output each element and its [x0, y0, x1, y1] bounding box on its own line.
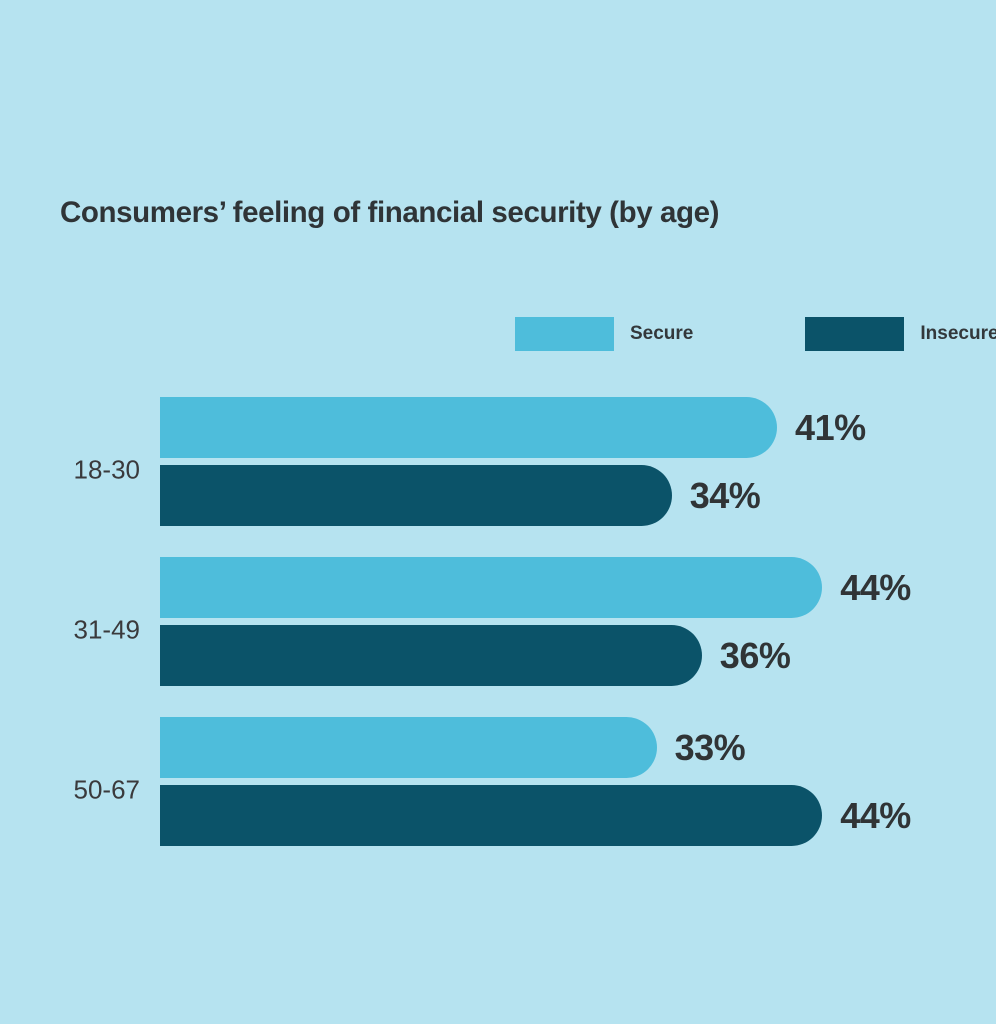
- bar-secure: [160, 397, 777, 458]
- bar-row-secure: 44%: [160, 557, 911, 618]
- bar-group: 18-30 41% 34%: [0, 390, 996, 550]
- bar-row-secure: 33%: [160, 717, 745, 778]
- bar-group: 31-49 44% 36%: [0, 550, 996, 710]
- category-label: 18-30: [0, 455, 140, 486]
- bar-row-insecure: 34%: [160, 465, 760, 526]
- page-title: Consumers’ feeling of financial security…: [60, 196, 719, 230]
- bar-row-insecure: 44%: [160, 785, 911, 846]
- category-label: 31-49: [0, 615, 140, 646]
- legend-label-secure: Secure: [630, 323, 693, 345]
- legend-item-insecure: Insecure: [805, 317, 996, 351]
- legend-swatch-insecure: [805, 317, 904, 351]
- bar-value-insecure: 34%: [690, 475, 761, 517]
- bar-row-insecure: 36%: [160, 625, 790, 686]
- legend-label-insecure: Insecure: [920, 323, 996, 345]
- chart-legend: Secure Insecure: [515, 316, 996, 352]
- bar-insecure: [160, 785, 822, 846]
- bar-value-secure: 44%: [840, 567, 911, 609]
- bar-value-insecure: 36%: [720, 635, 791, 677]
- category-label: 50-67: [0, 775, 140, 806]
- bar-secure: [160, 557, 822, 618]
- bar-group: 50-67 33% 44%: [0, 710, 996, 870]
- bar-value-secure: 33%: [675, 727, 746, 769]
- chart-container: Consumers’ feeling of financial security…: [0, 0, 996, 1024]
- plot-area: 18-30 41% 34% 31-49 44% 36% 50-67: [0, 390, 996, 870]
- bar-value-secure: 41%: [795, 407, 866, 449]
- bar-secure: [160, 717, 657, 778]
- legend-item-secure: Secure: [515, 317, 693, 351]
- bar-insecure: [160, 465, 672, 526]
- bar-row-secure: 41%: [160, 397, 866, 458]
- bar-insecure: [160, 625, 702, 686]
- bar-value-insecure: 44%: [840, 795, 911, 837]
- legend-swatch-secure: [515, 317, 614, 351]
